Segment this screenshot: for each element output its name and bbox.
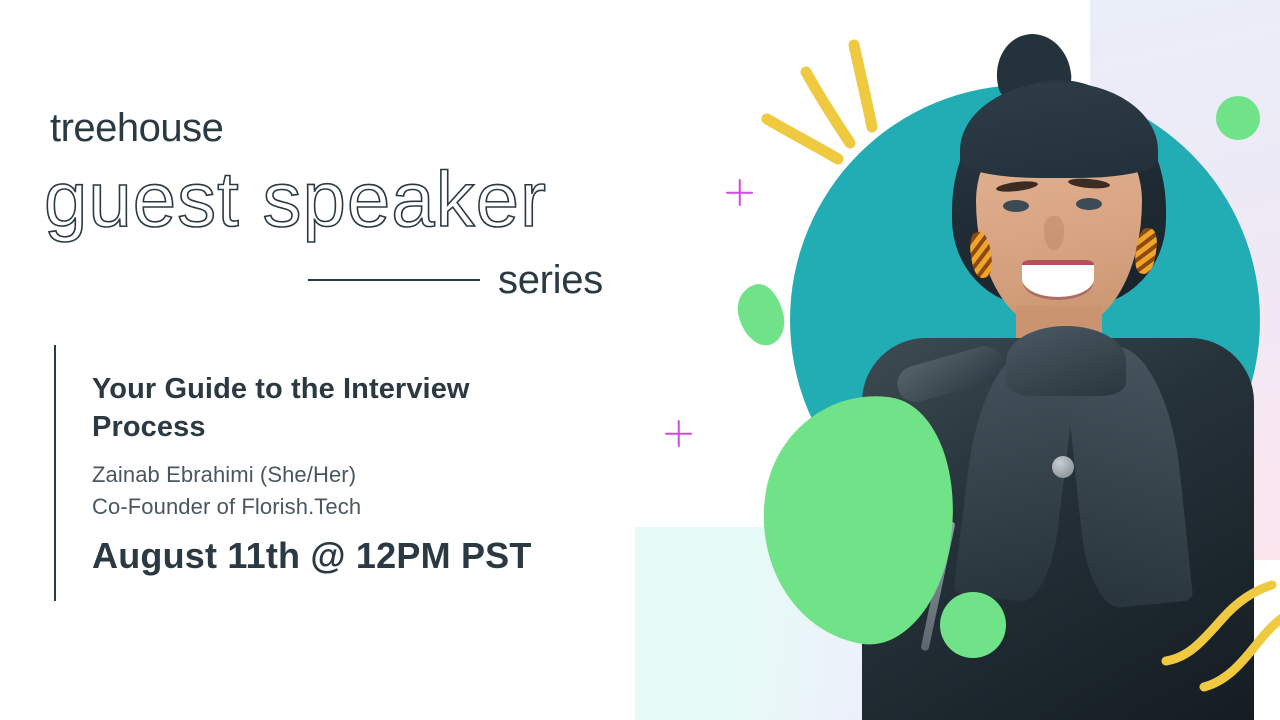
jacket-collar-shape (1006, 326, 1126, 396)
squiggle-lines-icon (1160, 575, 1280, 695)
plus-mark-icon-lower (665, 420, 692, 447)
hair-front-shape (960, 82, 1158, 178)
jacket-stud-icon (1052, 456, 1074, 478)
series-divider-rule (308, 279, 480, 281)
blob-shape-icon-top-right (1216, 96, 1260, 140)
event-datetime: August 11th @ 12PM PST (92, 536, 532, 576)
nose-shape (1044, 216, 1064, 250)
speaker-role: Co-Founder of Florish.Tech (92, 494, 361, 520)
sparkle-strokes-icon (750, 35, 910, 205)
smile-shape (1022, 260, 1094, 297)
vertical-accent-bar (54, 345, 56, 601)
series-label: series (498, 260, 603, 300)
session-title: Your Guide to the Interview Process (92, 370, 512, 447)
headline-outline-text: guest speaker (44, 160, 547, 238)
series-row: series (308, 256, 624, 304)
eye-left-shape (1003, 200, 1029, 212)
blob-shape-icon-small (732, 280, 790, 351)
brand-wordmark: treehouse (50, 108, 223, 148)
eye-right-shape (1076, 198, 1102, 210)
blob-shape-icon-circle (940, 592, 1006, 658)
plus-mark-icon-upper (726, 179, 753, 206)
promo-graphic: treehouse guest speaker series Your Guid… (0, 0, 1280, 720)
speaker-name: Zainab Ebrahimi (She/Her) (92, 462, 356, 488)
